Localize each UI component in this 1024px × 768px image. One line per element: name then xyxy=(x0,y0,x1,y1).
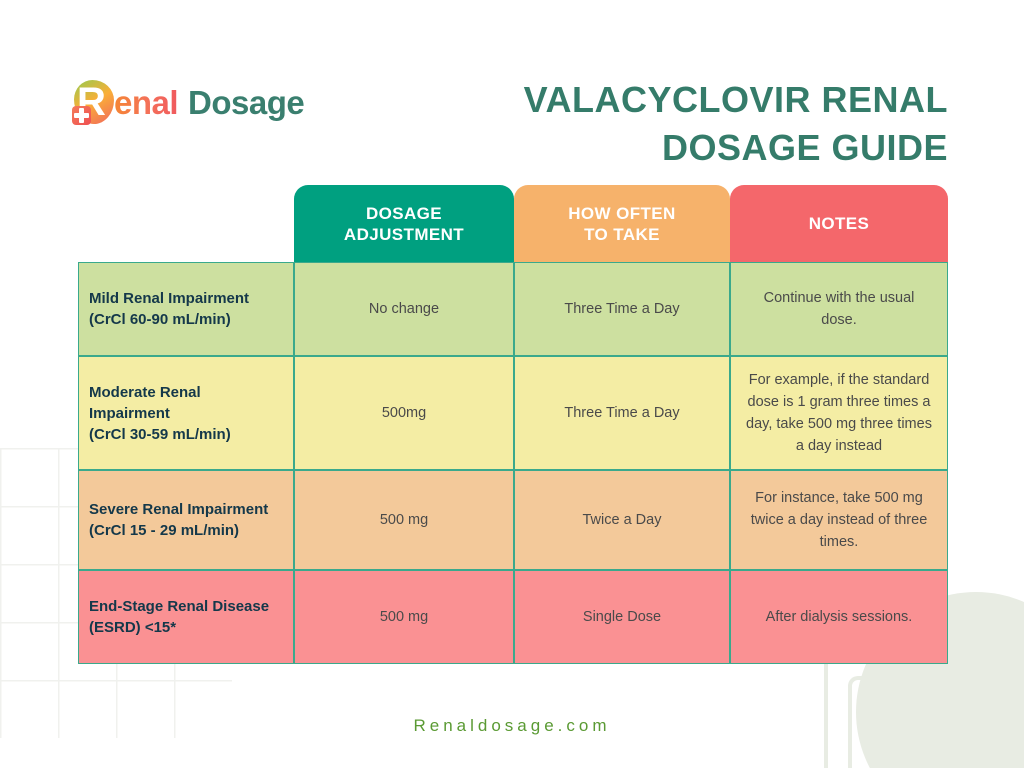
stage-name: Moderate Renal Impairment xyxy=(89,382,279,424)
footer-website[interactable]: Renaldosage.com xyxy=(0,716,1024,736)
column-header-dosage-adjustment: DOSAGE ADJUSTMENT xyxy=(294,185,514,262)
page-title: VALACYCLOVIR RENAL DOSAGE GUIDE xyxy=(408,76,948,172)
stage-name: End-Stage Renal Disease xyxy=(89,596,279,617)
stage-name: Severe Renal Impairment xyxy=(89,499,279,520)
logo-word-enal: enal xyxy=(114,84,178,122)
row-stage-label: End-Stage Renal Disease (ESRD) <15* xyxy=(78,570,294,664)
poster-canvas: R enal Dosage VALACYCLOVIR RENAL DOSAGE … xyxy=(0,0,1024,768)
nested-frames-decoration xyxy=(824,652,1006,768)
row-dosage-value: 500 mg xyxy=(294,470,514,570)
table-body: Mild Renal Impairment (CrCl 60-90 mL/min… xyxy=(78,262,948,664)
row-notes-value: Continue with the usual dose. xyxy=(730,262,948,356)
row-notes-value: For example, if the standard dose is 1 g… xyxy=(730,356,948,470)
table-header-row: DOSAGE ADJUSTMENT HOW OFTEN TO TAKE NOTE… xyxy=(78,185,948,262)
stage-range: (CrCl 30-59 mL/min) xyxy=(89,424,279,445)
column-header-frequency-line-1: HOW OFTEN xyxy=(520,203,724,224)
row-notes-value: After dialysis sessions. xyxy=(730,570,948,664)
column-header-notes-line-1: NOTES xyxy=(736,213,942,234)
row-frequency-value: Three Time a Day xyxy=(514,262,730,356)
stage-range: (ESRD) <15* xyxy=(89,617,279,638)
row-stage-label: Mild Renal Impairment (CrCl 60-90 mL/min… xyxy=(78,262,294,356)
page-title-line-1: VALACYCLOVIR RENAL xyxy=(408,76,948,124)
row-frequency-value: Single Dose xyxy=(514,570,730,664)
column-header-how-often-to-take: HOW OFTEN TO TAKE xyxy=(514,185,730,262)
cross-bar-vertical xyxy=(79,108,84,123)
column-header-dosage-line-1: DOSAGE xyxy=(300,203,508,224)
row-stage-label: Severe Renal Impairment (CrCl 15 - 29 mL… xyxy=(78,470,294,570)
row-dosage-value: 500 mg xyxy=(294,570,514,664)
column-header-dosage-line-2: ADJUSTMENT xyxy=(300,224,508,245)
stage-range: (CrCl 60-90 mL/min) xyxy=(89,309,279,330)
table-row: End-Stage Renal Disease (ESRD) <15* 500 … xyxy=(78,570,948,664)
row-frequency-value: Twice a Day xyxy=(514,470,730,570)
logo-mark-icon: R xyxy=(72,80,116,126)
column-header-notes: NOTES xyxy=(730,185,948,262)
row-dosage-value: 500mg xyxy=(294,356,514,470)
row-frequency-value: Three Time a Day xyxy=(514,356,730,470)
logo-word-dosage: Dosage xyxy=(188,84,304,122)
stage-name: Mild Renal Impairment xyxy=(89,288,279,309)
column-header-blank xyxy=(78,185,294,262)
medical-cross-glyph xyxy=(73,107,90,124)
table-row: Moderate Renal Impairment (CrCl 30-59 mL… xyxy=(78,356,948,470)
brand-logo[interactable]: R enal Dosage xyxy=(72,80,304,126)
row-notes-value: For instance, take 500 mg twice a day in… xyxy=(730,470,948,570)
row-stage-label: Moderate Renal Impairment (CrCl 30-59 mL… xyxy=(78,356,294,470)
stage-range: (CrCl 15 - 29 mL/min) xyxy=(89,520,279,541)
dosage-table-container: DOSAGE ADJUSTMENT HOW OFTEN TO TAKE NOTE… xyxy=(78,185,948,664)
table-row: Mild Renal Impairment (CrCl 60-90 mL/min… xyxy=(78,262,948,356)
row-dosage-value: No change xyxy=(294,262,514,356)
table-header: DOSAGE ADJUSTMENT HOW OFTEN TO TAKE NOTE… xyxy=(78,185,948,262)
page-title-line-2: DOSAGE GUIDE xyxy=(408,124,948,172)
dosage-table: DOSAGE ADJUSTMENT HOW OFTEN TO TAKE NOTE… xyxy=(78,185,948,664)
column-header-frequency-line-2: TO TAKE xyxy=(520,224,724,245)
table-row: Severe Renal Impairment (CrCl 15 - 29 mL… xyxy=(78,470,948,570)
